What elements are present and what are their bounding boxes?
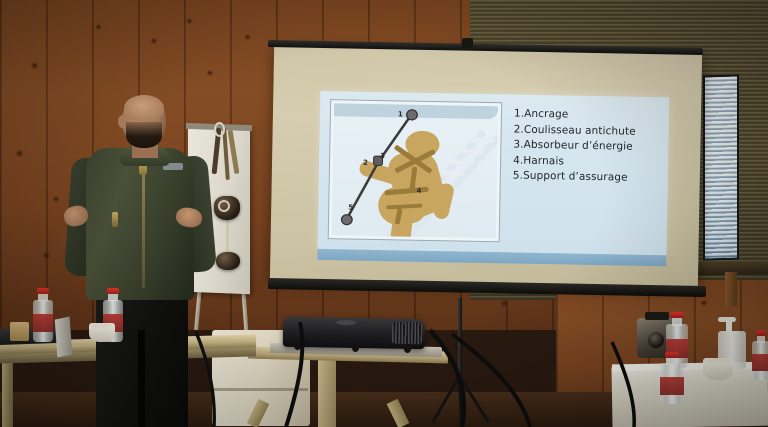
presenter-scalp [124,95,164,121]
diagram-callout-5: 5 [348,203,353,211]
presenter-jacket-zip [142,160,145,288]
fall-arrest-line-graphic [332,103,498,238]
pull-down-projection-screen: 1 2 3 4 5 1.Ancrage 2.Coulisseau antichu… [270,46,702,288]
projected-slide: 1 2 3 4 5 1.Ancrage 2.Coulisseau antichu… [317,91,669,255]
diagram-callout-2: 2 [363,159,368,167]
presenter-pocket-zip [112,212,118,227]
slide-bullet-list: 1.Ancrage 2.Coulisseau antichute 3.Absor… [499,94,669,255]
carabiner-icon [218,200,230,212]
screen-center-hook [462,38,473,48]
snap-hook [216,252,240,270]
slide-diagram-frame: 1 2 3 4 5 [328,99,503,242]
floor-cables [0,290,768,427]
diagram-callout-3: 3 [380,152,385,160]
window-blinds [705,77,737,259]
carabiner-icon [214,122,225,137]
slide-list-item: 5.Support d’assurage [513,169,668,187]
diagram-callout-4: 4 [416,187,421,195]
slide-diagram-canvas: 1 2 3 4 5 [332,103,498,238]
diagram-callout-1: 1 [398,110,403,118]
presenter-beard [126,122,162,148]
window-with-blinds [703,74,739,260]
screenshot-root: 1 2 3 4 5 1.Ancrage 2.Coulisseau antichu… [0,0,768,427]
